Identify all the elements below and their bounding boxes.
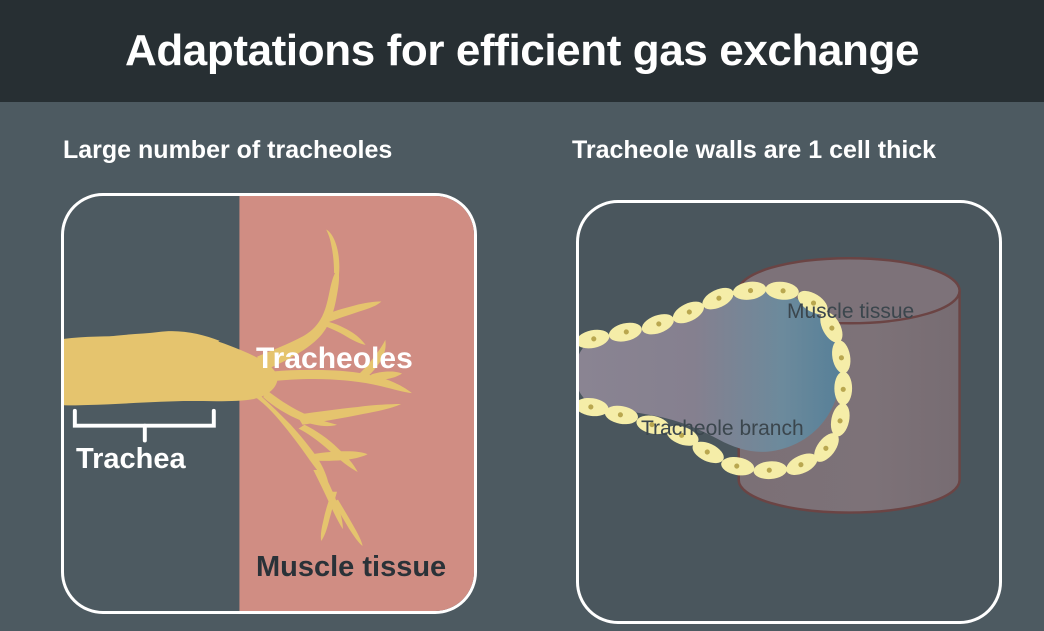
diagram-page: Adaptations for efficient gas exchange L…	[0, 0, 1044, 631]
tracheole-tree-illustration	[64, 196, 474, 611]
panel-heading-left: Large number of tracheoles	[63, 136, 392, 165]
card-tracheoles	[61, 193, 477, 614]
panel-heading-right: Tracheole walls are 1 cell thick	[572, 136, 936, 165]
tracheole-bulb-icon	[579, 291, 841, 452]
card-tracheole-wall	[576, 200, 1002, 624]
tracheole-branch-illustration	[579, 203, 999, 621]
trachea-bracket-icon	[75, 411, 214, 441]
page-title: Adaptations for efficient gas exchange	[0, 0, 1044, 102]
